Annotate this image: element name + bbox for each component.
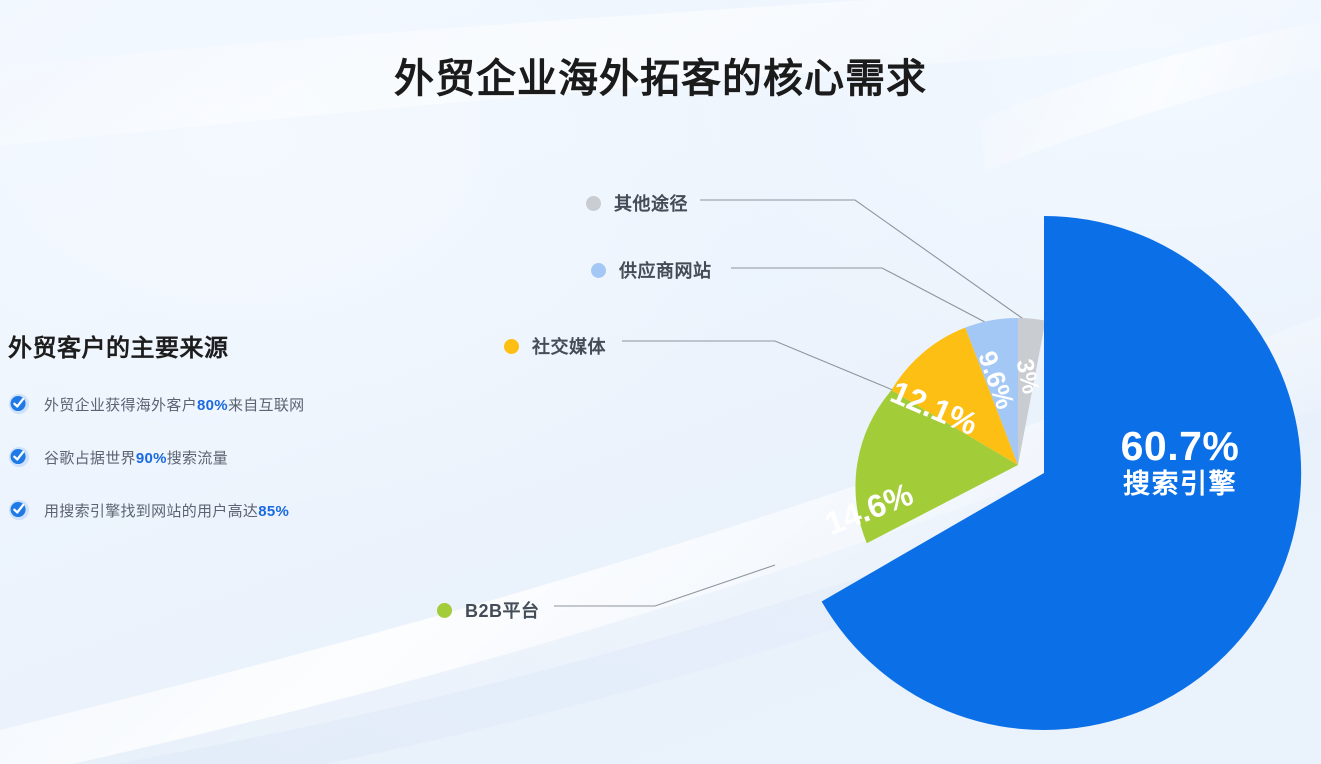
main-slice-percent: 60.7% xyxy=(1090,424,1270,468)
bullet-prefix: 用搜索引擎找到网站的用户高达 xyxy=(44,503,258,520)
pie-slice-b2b[interactable] xyxy=(855,390,1018,543)
slice-label-social: 12.1% xyxy=(886,374,984,443)
slice-label-supplier: 9.6% xyxy=(972,347,1020,413)
bullet-suffix: 来自互联网 xyxy=(228,397,305,414)
infographic-canvas: 外贸企业海外拓客的核心需求 外贸客户的主要来源 外贸企业获得海外客户80%来自互… xyxy=(0,0,1321,764)
slice-label-other: 3% xyxy=(1011,357,1045,397)
legend-label-other: 其他途径 xyxy=(614,190,688,216)
leader-line-b2b xyxy=(554,565,775,606)
leader-line-other xyxy=(700,200,1036,328)
legend-dot-other xyxy=(586,196,601,211)
legend-label-b2b: B2B平台 xyxy=(465,597,540,623)
legend-dot-supplier xyxy=(591,263,606,278)
check-circle-icon xyxy=(8,499,30,521)
legend-dot-social xyxy=(504,339,519,354)
bullet-highlight: 90% xyxy=(136,450,167,467)
slice-label-b2b: 14.6% xyxy=(820,476,918,542)
bullet-prefix: 外贸企业获得海外客户 xyxy=(44,397,197,414)
bullet-highlight: 85% xyxy=(258,503,289,520)
legend-label-supplier: 供应商网站 xyxy=(619,257,712,283)
bullet-highlight: 80% xyxy=(197,397,228,414)
legend-item-supplier[interactable]: 供应商网站 xyxy=(591,257,712,283)
sources-panel: 外贸客户的主要来源 外贸企业获得海外客户80%来自互联网 谷歌占据世界90%搜索… xyxy=(8,328,408,552)
sources-heading: 外贸客户的主要来源 xyxy=(8,328,408,363)
legend-label-social: 社交媒体 xyxy=(532,333,606,359)
leader-line-social xyxy=(622,341,900,393)
list-item-text: 谷歌占据世界90%搜索流量 xyxy=(44,447,228,468)
check-circle-icon xyxy=(8,393,30,415)
check-circle-icon xyxy=(8,446,30,468)
list-item-text: 用搜索引擎找到网站的用户高达85% xyxy=(44,500,289,521)
list-item: 外贸企业获得海外客户80%来自互联网 xyxy=(8,393,408,415)
legend-item-social[interactable]: 社交媒体 xyxy=(504,333,606,359)
legend-item-b2b[interactable]: B2B平台 xyxy=(437,597,540,623)
leader-line-supplier xyxy=(731,268,1000,330)
legend-dot-b2b xyxy=(437,603,452,618)
pie-slice-other[interactable] xyxy=(1018,318,1046,465)
list-item-text: 外贸企业获得海外客户80%来自互联网 xyxy=(44,394,304,415)
pie-slice-search-engine[interactable] xyxy=(822,216,1302,730)
page-title: 外贸企业海外拓客的核心需求 xyxy=(0,46,1321,104)
pie-slice-supplier[interactable] xyxy=(965,318,1018,465)
bullet-prefix: 谷歌占据世界 xyxy=(44,450,136,467)
slice-label-search-engine: 60.7% 搜索引擎 xyxy=(1090,424,1270,502)
bullet-suffix: 搜索流量 xyxy=(167,450,228,467)
main-slice-name: 搜索引擎 xyxy=(1090,468,1270,502)
list-item: 用搜索引擎找到网站的用户高达85% xyxy=(8,499,408,521)
list-item: 谷歌占据世界90%搜索流量 xyxy=(8,446,408,468)
legend-item-other[interactable]: 其他途径 xyxy=(586,190,688,216)
pie-slice-social[interactable] xyxy=(891,328,1018,465)
